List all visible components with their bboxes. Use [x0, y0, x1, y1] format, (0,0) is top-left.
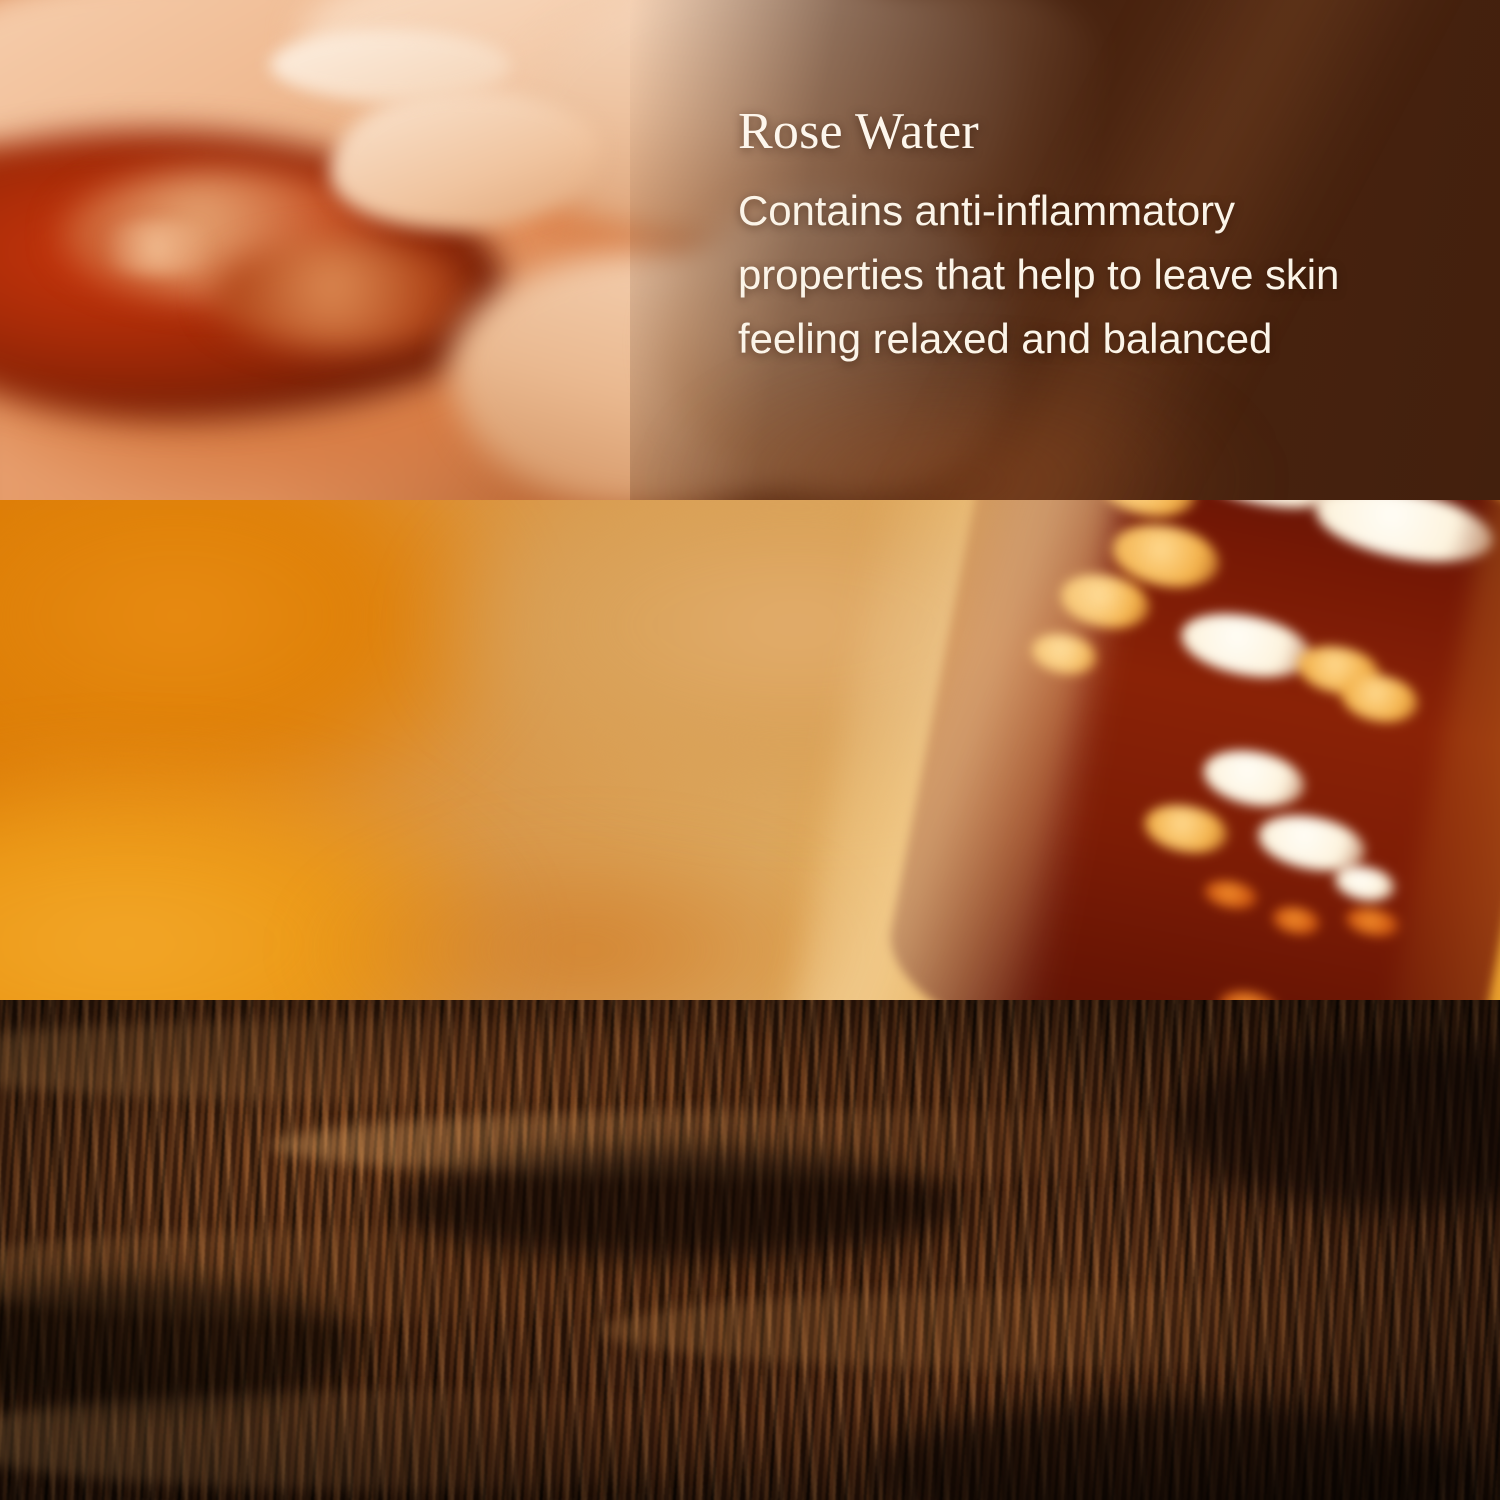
rose-corner-glow [660, 350, 1260, 500]
gold-bokeh-highlight [1344, 904, 1402, 940]
gold-bokeh-highlight [1176, 604, 1317, 687]
rose-petal-highlight [270, 30, 510, 100]
ingredient-benefits-infographic: Rose Water Contains anti-inflammatory pr… [0, 0, 1500, 1500]
panel-willow-bark-extract: Willow Bark Extract A natural, gentle ex… [0, 1000, 1500, 1500]
description-line: properties that help to leave skin [738, 243, 1438, 307]
gold-bokeh-highlight [1309, 500, 1498, 574]
rose-petal-highlight [210, 240, 480, 350]
rose-water-text-block: Rose Water Contains anti-inflammatory pr… [738, 104, 1438, 371]
gold-bokeh-highlight [1270, 903, 1322, 938]
description-line: feeling relaxed and balanced [738, 307, 1438, 371]
golden-liquid-image [0, 500, 1500, 1000]
gold-bokeh-highlight [1199, 742, 1309, 813]
panel-rose-water: Rose Water Contains anti-inflammatory pr… [0, 0, 1500, 500]
description-line: Contains anti-inflammatory [738, 179, 1438, 243]
gold-bokeh-highlight [1332, 862, 1397, 906]
rose-petal-highlight [90, 220, 225, 275]
gold-bokeh-highlight [1202, 877, 1260, 913]
tree-bark-image [0, 1000, 1500, 1500]
bark-vignette [0, 1000, 1500, 1500]
gold-bokeh-highlight [1140, 798, 1231, 859]
rose-water-heading: Rose Water [738, 104, 1438, 159]
gold-bokeh-highlight [1216, 987, 1281, 1000]
panel-colloidal-gold: Colloidal Gold Contains anti-inflammator… [0, 500, 1500, 1000]
rose-water-description: Contains anti-inflammatory properties th… [738, 179, 1438, 371]
